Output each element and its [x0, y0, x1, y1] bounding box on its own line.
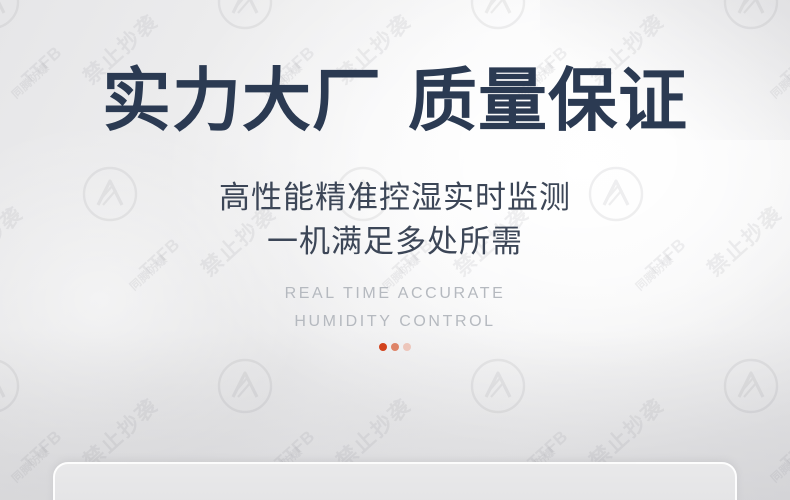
watermark-brand-cn: 同腾防爆 [767, 443, 790, 486]
subtitle-block: 高性能精准控湿实时监测 一机满足多处所需 [0, 176, 790, 264]
english-line-2: HUMIDITY CONTROL [0, 308, 790, 336]
carousel-dot-2[interactable] [391, 343, 399, 351]
carousel-dot-3[interactable] [403, 343, 411, 351]
ttfb-circle-logo-icon [723, 358, 779, 414]
watermark-brand-cn: 同腾防爆 [8, 443, 53, 486]
subtitle-line-2: 一机满足多处所需 [0, 220, 790, 264]
promo-banner: TTFB同腾防爆禁止抄袭TTFB同腾防爆禁止抄袭TTFB同腾防爆禁止抄袭TTFB… [0, 0, 790, 500]
ttfb-circle-logo-icon [470, 0, 526, 30]
headline-part-2: 质量保证 [408, 62, 688, 139]
headline-part-1: 实力大厂 [102, 62, 382, 139]
product-card-panel [53, 462, 737, 500]
ttfb-circle-logo-icon [0, 358, 20, 414]
ttfb-circle-logo-icon [0, 0, 20, 30]
subtitle-line-1: 高性能精准控湿实时监测 [0, 176, 790, 220]
carousel-indicator[interactable] [0, 343, 790, 351]
page-title: 实力大厂质量保证 [0, 66, 790, 135]
english-line-1: REAL TIME ACCURATE [0, 280, 790, 308]
ttfb-circle-logo-icon [217, 0, 273, 30]
carousel-dot-1[interactable] [379, 343, 387, 351]
ttfb-circle-logo-icon [470, 358, 526, 414]
ttfb-circle-logo-icon [723, 0, 779, 30]
ttfb-circle-logo-icon [217, 358, 273, 414]
watermark-brand-latin: TTFB [777, 426, 790, 473]
english-tagline-block: REAL TIME ACCURATE HUMIDITY CONTROL [0, 280, 790, 336]
